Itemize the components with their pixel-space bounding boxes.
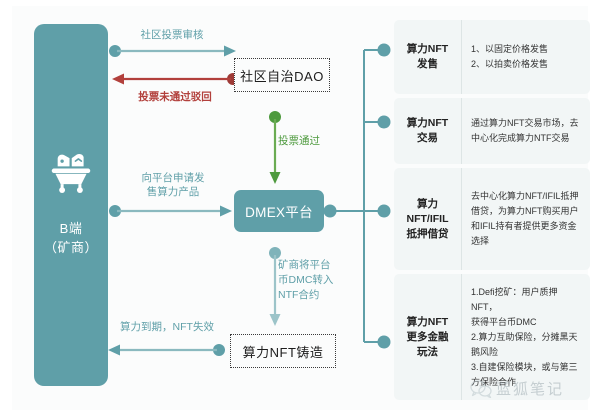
node-dmex-platform-label: DMEX平台 xyxy=(245,201,313,221)
flow-label-vote-review: 社区投票审核 xyxy=(112,28,232,42)
card-nft-sale-line-2: 2、以拍卖价格发售 xyxy=(471,57,583,72)
watermark-text: 蓝狐笔记 xyxy=(496,378,564,399)
card-nft-sale-line-1: 1、以固定价格发售 xyxy=(471,42,583,57)
b-side-label-line1: B端 xyxy=(44,219,98,238)
tree-connector xyxy=(322,36,394,376)
arrow-vote-rejected xyxy=(108,72,240,86)
card-nft-sale-body: 1、以固定价格发售 2、以拍卖价格发售 xyxy=(462,20,590,94)
node-nft-minting: 算力NFT铸造 xyxy=(230,334,336,368)
wechat-icon xyxy=(470,380,492,398)
b-side-label: B端 （矿商） xyxy=(44,219,98,257)
arrow-apply-sell xyxy=(108,204,236,218)
b-side-label-line2: （矿商） xyxy=(44,238,98,257)
diagram-canvas: B端 （矿商） 社区投票审核 投票未通过驳回 社区自治DAO 投票 xyxy=(0,0,600,417)
arrow-vote-passed xyxy=(268,110,282,186)
card-nft-collateral-loan-title: 算力 NFT/IFIL 抵押借贷 xyxy=(394,168,462,270)
node-dmex-platform: DMEX平台 xyxy=(234,190,324,232)
node-community-dao-label: 社区自治DAO xyxy=(240,66,324,85)
card-nft-collateral-loan[interactable]: 算力 NFT/IFIL 抵押借贷 去中心化算力NFT/IFIL抵押 借贷，为算力… xyxy=(394,168,590,270)
mining-cart-icon xyxy=(47,153,95,193)
card-nft-more-finance-line-2: 2.算力互助保险，分摊黑天 鹅风险 xyxy=(471,330,583,360)
card-nft-collateral-loan-line-1: 去中心化算力NFT/IFIL抵押 借贷，为算力NFT购买用户 和IFIL持有者提… xyxy=(471,189,583,249)
flow-label-apply-sell: 向平台申请发 售算力产品 xyxy=(114,171,232,199)
flow-label-vote-rejected: 投票未通过驳回 xyxy=(112,90,238,104)
node-community-dao: 社区自治DAO xyxy=(234,58,330,92)
card-nft-trade-title: 算力NFT 交易 xyxy=(394,98,462,164)
card-nft-trade[interactable]: 算力NFT 交易 通过算力NFT交易市场，去 中心化完成算力NTF交易 xyxy=(394,98,590,164)
card-nft-sale-title: 算力NFT 发售 xyxy=(394,20,462,94)
diagram-stage: B端 （矿商） 社区投票审核 投票未通过驳回 社区自治DAO 投票 xyxy=(12,6,588,410)
flow-label-nft-expire: 算力到期，NFT失效 xyxy=(104,320,230,334)
card-nft-more-finance-title: 算力NFT 更多金融 玩法 xyxy=(394,274,462,400)
b-side-miner-panel: B端 （矿商） xyxy=(34,24,108,386)
card-nft-collateral-loan-body: 去中心化算力NFT/IFIL抵押 借贷，为算力NFT购买用户 和IFIL持有者提… xyxy=(462,168,590,270)
node-nft-minting-label: 算力NFT铸造 xyxy=(243,342,324,361)
card-nft-trade-line-1: 通过算力NFT交易市场，去 中心化完成算力NTF交易 xyxy=(471,116,583,146)
arrow-nft-expire xyxy=(104,343,226,357)
card-nft-more-finance-line-1: 1.Defi挖矿：用户质押NFT， 获得平台币DMC xyxy=(471,285,583,330)
card-nft-trade-body: 通过算力NFT交易市场，去 中心化完成算力NTF交易 xyxy=(462,98,590,164)
arrow-vote-review xyxy=(108,44,240,58)
watermark: 蓝狐笔记 xyxy=(470,378,564,399)
card-nft-sale[interactable]: 算力NFT 发售 1、以固定价格发售 2、以拍卖价格发售 xyxy=(394,20,590,94)
